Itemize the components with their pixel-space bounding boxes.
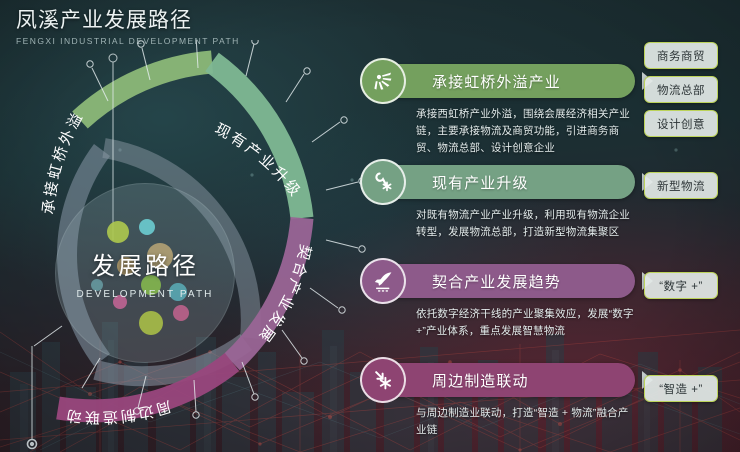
tag-smart-mfg-plus[interactable]: “智造 +”: [644, 375, 718, 402]
card-description: 与周边制造业联动，打造“智造 + 物流”融合产业链: [416, 405, 634, 439]
tag-digital-plus[interactable]: “数字 +”: [644, 272, 718, 299]
card-title: 现有产业升级: [432, 172, 529, 193]
card-description: 对既有物流产业产业升级，利用现有物流企业转型，发展物流总部，打造新型物流集聚区: [416, 207, 634, 241]
tag-business-trade[interactable]: 商务商贸: [644, 42, 718, 69]
wrench-spark-icon: [360, 159, 406, 205]
card-pill[interactable]: 现有产业升级: [380, 165, 635, 199]
path-card-2[interactable]: 现有产业升级 对既有物流产业产业升级，利用现有物流企业转型，发展物流总部，打造新…: [380, 165, 635, 241]
tag-design-creative[interactable]: 设计创意: [644, 110, 718, 137]
card-title: 承接虹桥外溢产业: [432, 71, 561, 92]
card-pill[interactable]: 周边制造联动: [380, 363, 635, 397]
card-description: 依托数字经济干线的产业聚集效应，发展“数字 +”产业体系，重点发展智慧物流: [416, 306, 634, 340]
hub-title-en: DEVELOPMENT PATH: [77, 289, 214, 300]
tag-logistics-hq[interactable]: 物流总部: [644, 76, 718, 103]
hub-title-cn: 发展路径: [91, 246, 199, 281]
arrow-into-star-icon: [360, 357, 406, 403]
path-card-3[interactable]: 契合产业发展趋势 依托数字经济干线的产业聚集效应，发展“数字 +”产业体系，重点…: [380, 264, 635, 340]
burst-rays-icon: [360, 58, 406, 104]
arc-segment-1: [80, 62, 212, 120]
hub-text-block: 发展路径 DEVELOPMENT PATH: [55, 183, 235, 363]
card-title: 周边制造联动: [432, 370, 529, 391]
page-title-cn: 凤溪产业发展路径: [16, 8, 240, 33]
card-pill[interactable]: 契合产业发展趋势: [380, 264, 635, 298]
card-pill[interactable]: 承接虹桥外溢产业: [380, 64, 635, 98]
tag-new-logistics[interactable]: 新型物流: [644, 172, 718, 199]
card-title: 契合产业发展趋势: [432, 271, 561, 292]
card-description: 承接西虹桥产业外溢，围绕会展经济相关产业链，主要承接物流及商贸功能，引进商务商贸…: [416, 106, 634, 157]
rocket-launch-icon: [360, 258, 406, 304]
path-card-1[interactable]: 承接虹桥外溢产业 承接西虹桥产业外溢，围绕会展经济相关产业链，主要承接物流及商贸…: [380, 64, 635, 157]
infographic-canvas: 凤溪产业发展路径 FENGXI INDUSTRIAL DEVELOPMENT P…: [0, 0, 740, 452]
path-card-4[interactable]: 周边制造联动 与周边制造业联动，打造“智造 + 物流”融合产业链: [380, 363, 635, 439]
radial-path-diagram: 承接虹桥外溢 现有产业升级 契合产业发展 周边制造联动 发展路径 DEVELOP…: [0, 40, 370, 452]
